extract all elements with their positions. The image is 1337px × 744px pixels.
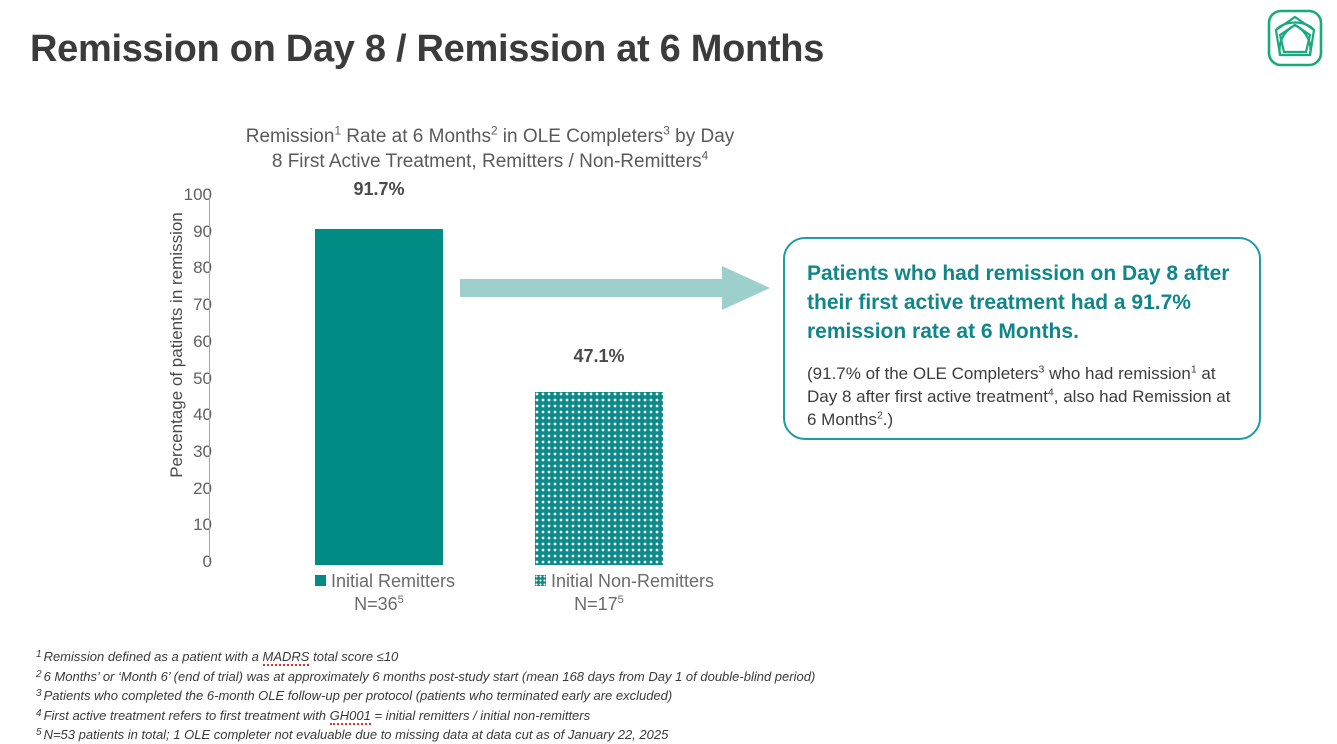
y-tick-40: 40 (172, 405, 212, 425)
footnote-marker-5: 5 (36, 727, 42, 738)
callout-body: (91.7% of the OLE Completers3 who had re… (807, 362, 1237, 431)
footnote-5: 5N=53 patients in total; 1 OLE completer… (36, 724, 815, 744)
y-tick-80: 80 (172, 258, 212, 278)
footnote-2: 26 Months’ or ‘Month 6’ (end of trial) w… (36, 666, 815, 686)
legend-n-row-remitters: N=365 (315, 593, 443, 616)
footnote-marker-1: 1 (36, 649, 42, 660)
footnotes: 1Remission defined as a patient with a M… (36, 646, 815, 744)
chart-title-seg-4: by Day (670, 126, 734, 147)
legend-swatch-solid-icon (315, 575, 326, 586)
footnote-marker-2: 2 (36, 669, 42, 680)
footnote-marker-3: 3 (36, 688, 42, 699)
chart-title-seg-3: in OLE Completers (498, 126, 664, 147)
footnote-1: 1Remission defined as a patient with a M… (36, 646, 815, 666)
footnote-flagged-4: GH001 (330, 708, 371, 725)
callout-box: Patients who had remission on Day 8 afte… (783, 237, 1261, 440)
legend-n-non-remitters: N=17 (574, 594, 618, 614)
y-tick-70: 70 (172, 295, 212, 315)
bar-initial-remitters[interactable] (315, 229, 443, 566)
footnote-text-2a: 6 Months’ or ‘Month 6’ (end of trial) wa… (44, 669, 816, 684)
page-title: Remission on Day 8 / Remission at 6 Mont… (30, 28, 824, 71)
y-tick-30: 30 (172, 442, 212, 462)
callout-body-seg-1: (91.7% of the OLE Completers (807, 364, 1039, 383)
legend-label-non-remitters: Initial Non-Remitters (551, 571, 714, 591)
chart-title-seg-1: Remission (246, 126, 335, 147)
chart-title-line-2: 8 First Active Treatment, Remitters / No… (200, 149, 780, 174)
footnote-flagged-1: MADRS (263, 649, 310, 666)
callout-body-seg-2: who had remission (1044, 364, 1190, 383)
footnote-text-3a: Patients who completed the 6-month OLE f… (44, 688, 673, 703)
legend-label-row-non-remitters: Initial Non-Remitters (535, 570, 663, 593)
footnote-3: 3Patients who completed the 6-month OLE … (36, 685, 815, 705)
bar-chart: Percentage of patients in remission 100 … (125, 185, 825, 575)
footnote-marker-4: 4 (36, 708, 42, 719)
chart-title-sup-4: 4 (702, 150, 709, 163)
callout-body-seg-5: .) (883, 410, 893, 429)
company-logo-icon (1266, 8, 1324, 68)
y-tick-60: 60 (172, 332, 212, 352)
legend-n-row-non-remitters: N=175 (535, 593, 663, 616)
y-tick-100: 100 (172, 185, 212, 205)
flow-arrow-icon (460, 266, 770, 310)
chart-title-seg-5: 8 First Active Treatment, Remitters / No… (272, 151, 702, 172)
legend-label-remitters: Initial Remitters (331, 571, 455, 591)
footnote-text-4a: First active treatment refers to first t… (44, 708, 330, 723)
callout-heading: Patients who had remission on Day 8 afte… (807, 259, 1237, 346)
y-tick-50: 50 (172, 369, 212, 389)
legend-n-sup-non-remitters: 5 (618, 594, 624, 606)
chart-legend: Initial Remitters N=365 Initial Non-Remi… (125, 570, 825, 630)
legend-label-row-remitters: Initial Remitters (315, 570, 443, 593)
legend-n-sup-remitters: 5 (398, 594, 404, 606)
y-tick-0: 0 (172, 552, 212, 572)
y-axis-line (209, 195, 210, 562)
y-tick-20: 20 (172, 479, 212, 499)
bar-value-remitters: 91.7% (315, 179, 443, 200)
legend-n-remitters: N=36 (354, 594, 398, 614)
footnote-text-4b: = initial remitters / initial non-remitt… (371, 708, 590, 723)
footnote-text-1a: Remission defined as a patient with a (44, 649, 263, 664)
legend-item-initial-remitters[interactable]: Initial Remitters N=365 (315, 570, 443, 616)
legend-swatch-dotted-icon (535, 575, 546, 586)
bar-initial-non-remitters[interactable] (535, 392, 663, 565)
legend-item-initial-non-remitters[interactable]: Initial Non-Remitters N=175 (535, 570, 663, 616)
bar-value-non-remitters: 47.1% (535, 346, 663, 367)
y-tick-90: 90 (172, 222, 212, 242)
footnote-text-1b: total score ≤10 (309, 649, 398, 664)
footnote-text-5a: N=53 patients in total; 1 OLE completer … (44, 727, 669, 742)
chart-title-seg-2: Rate at 6 Months (341, 126, 491, 147)
footnote-4: 4First active treatment refers to first … (36, 705, 815, 725)
chart-title: Remission1 Rate at 6 Months2 in OLE Comp… (200, 124, 780, 174)
y-tick-10: 10 (172, 515, 212, 535)
chart-title-line-1: Remission1 Rate at 6 Months2 in OLE Comp… (200, 124, 780, 149)
